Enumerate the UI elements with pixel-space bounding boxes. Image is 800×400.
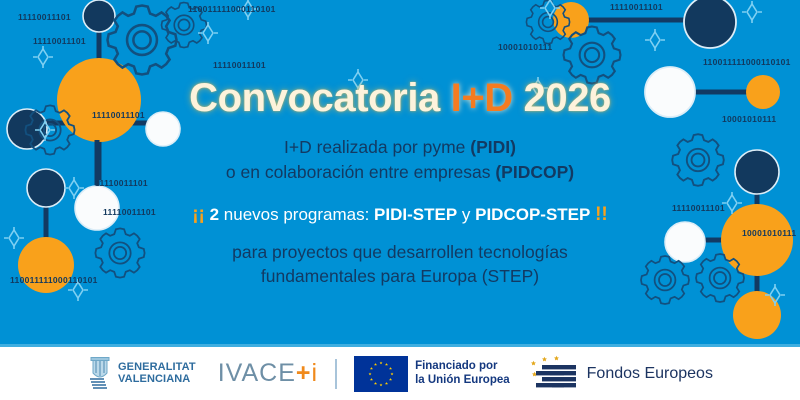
eu-flag-icon: [354, 356, 408, 392]
programs-highlight: ¡¡ 2 nuevos programas: PIDI-STEP y PIDCO…: [192, 203, 608, 228]
exclamation-close: !!: [595, 204, 608, 225]
fondos-europeos-stripes-icon: [530, 355, 580, 393]
program-name-pidi-step: PIDI-STEP: [374, 205, 457, 224]
subtitle-line1-text: I+D realizada por pyme: [284, 137, 470, 157]
logo-divider: [335, 359, 337, 389]
logo-fondos-europeos: Fondos Europeos: [530, 355, 713, 393]
page-title: Convocatoria I+D 2026: [189, 78, 611, 118]
logo-generalitat-valenciana: GENERALITAT VALENCIANA: [87, 357, 196, 391]
footer-logo-bar: GENERALITAT VALENCIANA IVACE+i Financiad…: [0, 344, 800, 400]
headline-highlight: I+D: [451, 76, 513, 120]
fondos-europeos-label: Fondos Europeos: [587, 365, 713, 383]
eu-funding-line-1: Financiado por: [415, 360, 510, 374]
eu-funding-line-2: la Unión Europea: [415, 374, 510, 388]
subtitle-line1-acronym: (PIDI): [470, 137, 516, 157]
programs-conjunction: y: [457, 205, 475, 224]
tagline-line-2: fundamentales para Europa (STEP): [232, 265, 568, 289]
tagline-line-1: para proyectos que desarrollen tecnologí…: [232, 241, 568, 265]
tagline: para proyectos que desarrollen tecnologí…: [232, 241, 568, 288]
program-name-pidcop-step: PIDCOP-STEP: [475, 205, 590, 224]
ivace-wordmark: IVACE: [218, 359, 296, 387]
subtitle: I+D realizada por pyme (PIDI) o en colab…: [226, 135, 574, 186]
generalitat-crest-icon: [87, 357, 113, 391]
logo-ivace: IVACE+i: [218, 359, 318, 388]
ivace-plus-icon: +: [296, 359, 312, 387]
generalitat-line-2: VALENCIANA: [118, 374, 196, 386]
programs-text: nuevos programas:: [219, 205, 374, 224]
programs-count: 2: [210, 205, 219, 224]
subtitle-line2-text: o en colaboración entre empresas: [226, 162, 495, 182]
subtitle-line2-acronym: (PIDCOP): [495, 162, 574, 182]
eu-funding-label: Financiado por la Unión Europea: [415, 360, 510, 388]
subtitle-line-2: o en colaboración entre empresas (PIDCOP…: [226, 160, 574, 185]
promo-banner: 1111001110111110011101110011111000110101…: [0, 0, 800, 400]
generalitat-label: GENERALITAT VALENCIANA: [118, 362, 196, 386]
generalitat-line-1: GENERALITAT: [118, 362, 196, 374]
headline-part2: 2026: [513, 76, 611, 120]
headline-part1: Convocatoria: [189, 76, 451, 120]
logo-european-union: Financiado por la Unión Europea: [354, 356, 510, 392]
subtitle-line-1: I+D realizada por pyme (PIDI): [226, 135, 574, 160]
exclamation-open: ¡¡: [192, 204, 205, 225]
ivace-i-mark: i: [312, 359, 319, 387]
hero-content: Convocatoria I+D 2026 I+D realizada por …: [0, 0, 800, 340]
